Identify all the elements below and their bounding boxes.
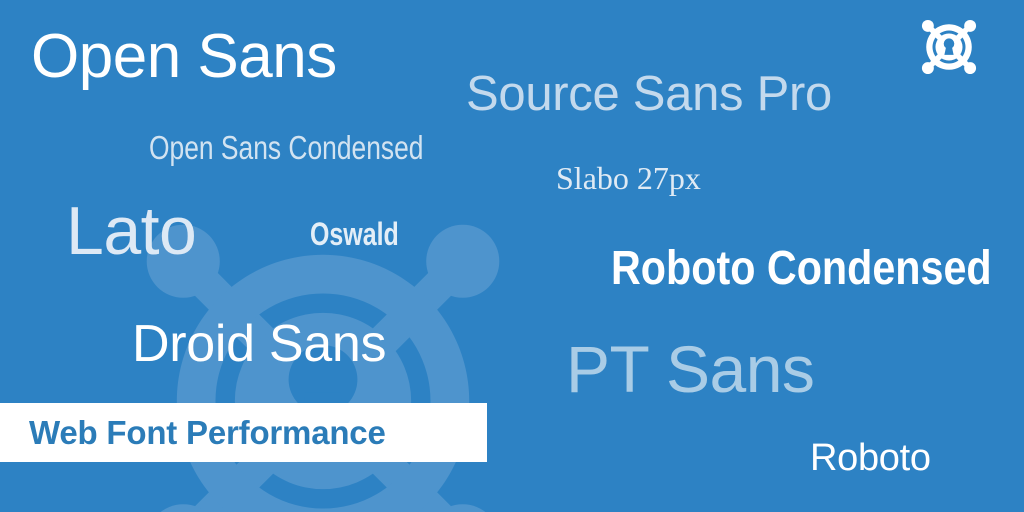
font-label-source-sans-pro: Source Sans Pro [466, 70, 832, 119]
web-font-performance-banner: Open Sans Source Sans Pro Open Sans Cond… [0, 0, 1024, 512]
keycdn-keyhole-logo-icon[interactable] [916, 14, 982, 80]
font-label-lato: Lato [66, 197, 196, 265]
font-label-droid-sans: Droid Sans [132, 318, 386, 370]
font-label-open-sans-condensed: Open Sans Condensed [149, 131, 423, 164]
font-label-roboto-condensed: Roboto Condensed [611, 245, 992, 293]
font-label-roboto: Roboto [810, 439, 931, 477]
font-label-slabo-27px: Slabo 27px [556, 162, 701, 194]
font-label-open-sans: Open Sans [31, 26, 337, 88]
font-label-pt-sans: PT Sans [566, 336, 814, 402]
headline-banner: Web Font Performance [0, 403, 487, 462]
font-label-oswald: Oswald [310, 218, 399, 250]
page-title: Web Font Performance [29, 416, 386, 449]
